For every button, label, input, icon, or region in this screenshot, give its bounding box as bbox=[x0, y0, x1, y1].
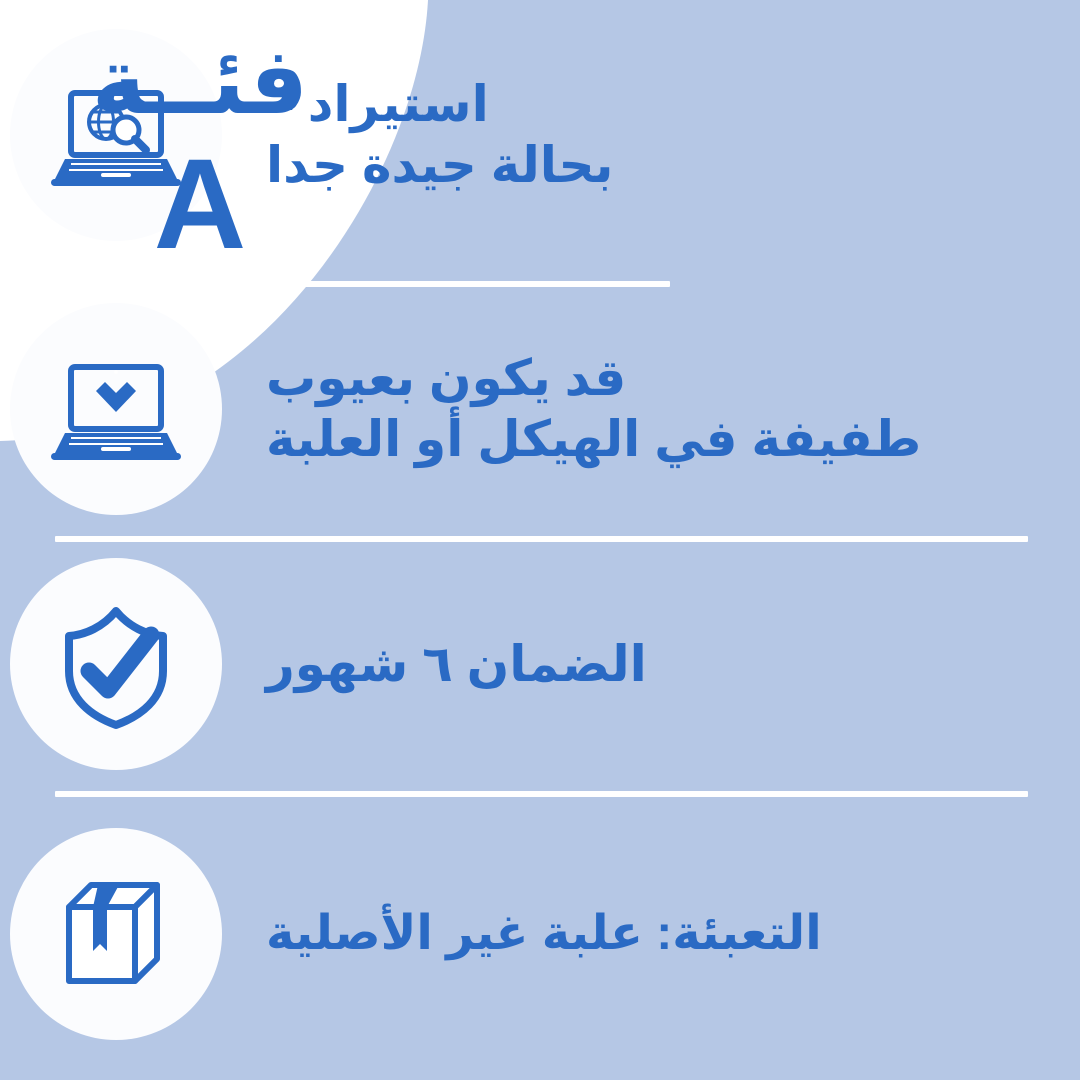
feature-text-minor-defects: قد يكون بعيوب طفيفة في الهيكل أو العلبة bbox=[244, 348, 1080, 470]
feature-row-minor-defects: قد يكون بعيوب طفيفة في الهيكل أو العلبة bbox=[0, 303, 1080, 515]
feature-row-warranty: الضمان ٦ شهور bbox=[0, 558, 1080, 770]
divider-3 bbox=[55, 791, 1028, 797]
divider-2 bbox=[55, 536, 1028, 542]
icon-badge-packaging bbox=[10, 828, 222, 1040]
feature-text-packaging: التعبئة: علبة غير الأصلية bbox=[244, 905, 1080, 964]
icon-badge-minor-defects bbox=[10, 303, 222, 515]
package-box-icon bbox=[41, 859, 191, 1009]
condition-grade-card: فئــة A استيراد – بحالة جيدة جدا bbox=[0, 0, 1080, 1080]
grade-badge: فئــة A bbox=[0, 36, 400, 272]
divider-1 bbox=[55, 281, 670, 287]
shield-check-icon bbox=[41, 589, 191, 739]
icon-badge-warranty bbox=[10, 558, 222, 770]
grade-letter: A bbox=[0, 138, 400, 272]
laptop-check-icon bbox=[41, 334, 191, 484]
grade-label: فئــة bbox=[0, 36, 400, 128]
feature-text-warranty: الضمان ٦ شهور bbox=[244, 634, 1080, 695]
feature-row-packaging: التعبئة: علبة غير الأصلية bbox=[0, 828, 1080, 1040]
